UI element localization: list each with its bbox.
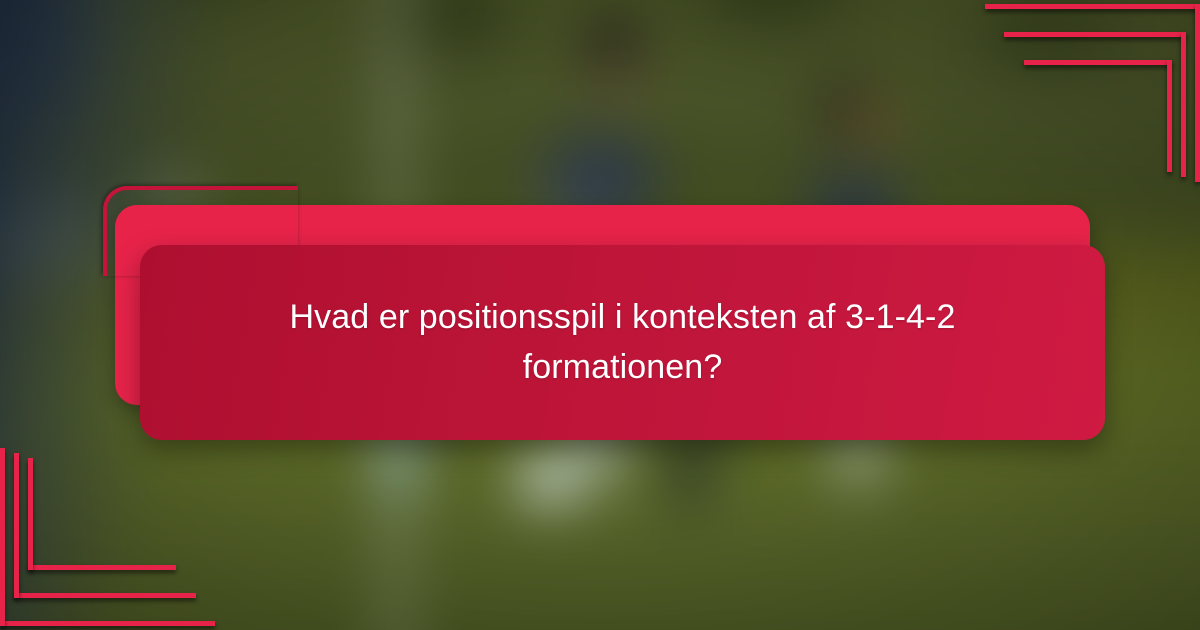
share-card-canvas: Hvad er positionsspil i konteksten af 3-… xyxy=(0,0,1200,630)
question-text: Hvad er positionsspil i konteksten af 3-… xyxy=(243,293,1003,392)
question-card: Hvad er positionsspil i konteksten af 3-… xyxy=(140,245,1105,440)
